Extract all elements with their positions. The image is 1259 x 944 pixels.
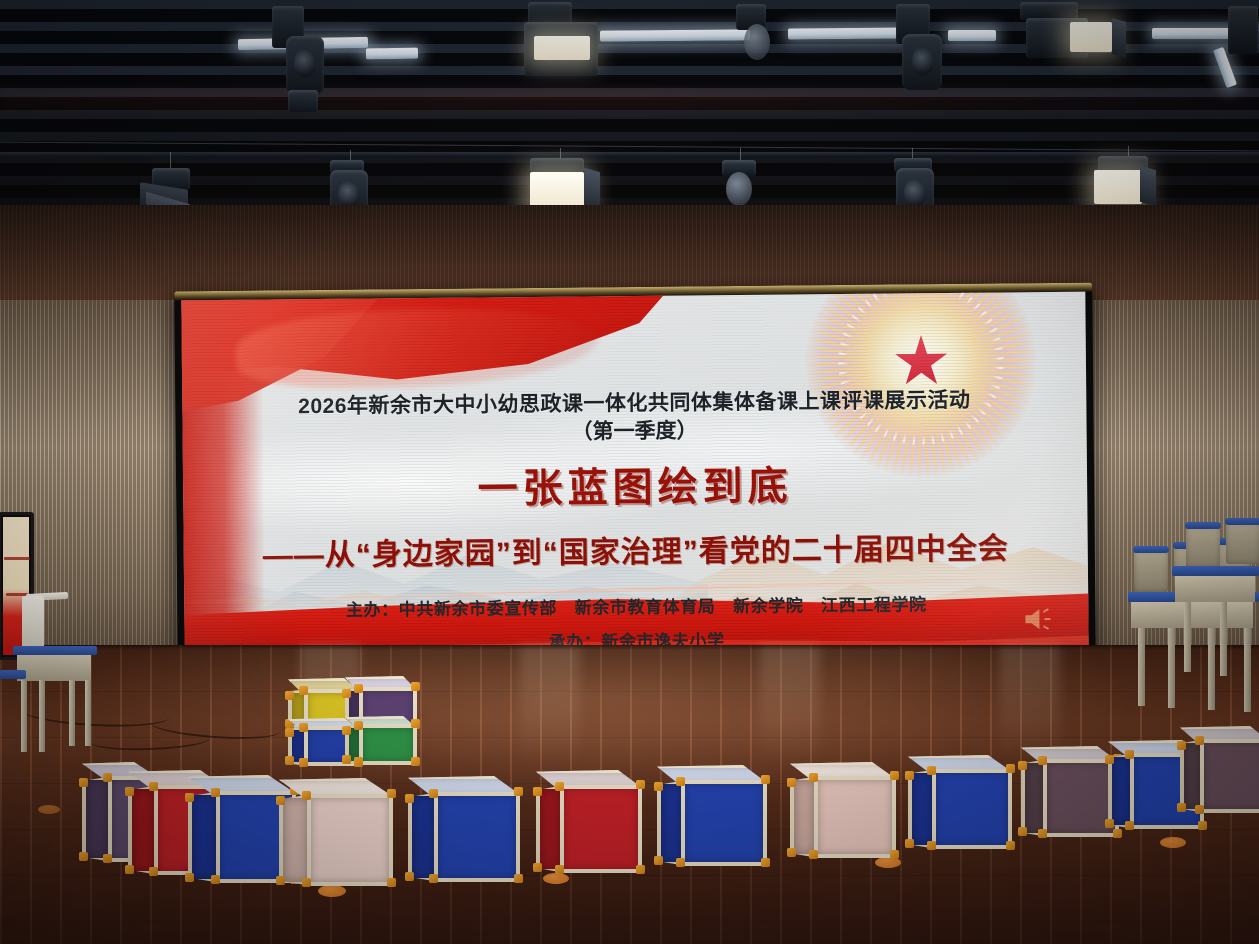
cube-corner-bracket xyxy=(103,773,112,782)
strip-light xyxy=(948,30,996,41)
cube-corner-bracket xyxy=(905,771,914,780)
chair-back xyxy=(1226,522,1259,564)
cube-corner-bracket xyxy=(103,854,112,863)
desk-apron xyxy=(1175,576,1255,602)
cube-corner-bracket xyxy=(79,778,88,787)
cube-corner-bracket xyxy=(1038,829,1047,838)
cube-corner-bracket xyxy=(1105,819,1114,828)
cube-corner-bracket xyxy=(1177,741,1186,750)
cube-corner-bracket xyxy=(761,775,770,784)
cube-corner-bracket xyxy=(1125,750,1134,759)
document-camera[interactable] xyxy=(22,596,44,650)
cube-corner-bracket xyxy=(676,858,685,867)
lighting-truss xyxy=(0,152,1259,157)
cube-stool[interactable] xyxy=(279,778,393,886)
cube-stool[interactable] xyxy=(790,762,896,858)
stage-light-lens xyxy=(904,178,926,208)
cube-corner-bracket xyxy=(890,771,899,780)
desk-top xyxy=(1172,566,1259,576)
cube-corner-bracket xyxy=(185,873,194,882)
cube-corner-bracket xyxy=(299,758,308,767)
desk-top xyxy=(13,646,97,655)
cube-corner-bracket xyxy=(211,788,220,797)
cube-face-front xyxy=(359,724,417,765)
cube-corner-bracket xyxy=(411,682,420,691)
cube-corner-bracket xyxy=(761,858,770,867)
stage-light-lens xyxy=(912,46,934,76)
chair-back xyxy=(1186,526,1220,568)
desk-leg xyxy=(69,680,75,746)
organizers-line: 主办：中共新余市委宣传部 新余市教育体育局 新余学院 江西工程学院 xyxy=(346,590,927,621)
desk-leg xyxy=(1184,602,1191,672)
cube-corner-bracket xyxy=(285,728,294,737)
cube-face-front xyxy=(307,794,393,886)
cube-face-front xyxy=(681,780,767,866)
teacher-desk xyxy=(13,646,97,754)
desk-leg xyxy=(21,680,27,752)
led-wall-screen[interactable]: 2026年新余市大中小幼思政课一体化共同体集体备课上课评课展示活动 （第一季度）… xyxy=(174,283,1096,664)
cube-corner-bracket xyxy=(654,856,663,865)
cube-corner-bracket xyxy=(387,878,396,887)
poster-text-line xyxy=(4,557,30,560)
event-header-line2: （第一季度） xyxy=(571,417,697,446)
cube-corner-bracket xyxy=(354,721,363,730)
cube-corner-bracket xyxy=(429,874,438,883)
stage-light-lens xyxy=(294,48,316,78)
light-reflector-disc xyxy=(744,24,770,60)
stage-light-yoke xyxy=(530,158,584,172)
stage-light-lens xyxy=(338,180,360,208)
cube-corner-bracket xyxy=(211,875,220,884)
cube-stool[interactable] xyxy=(1180,726,1259,813)
cube-corner-bracket xyxy=(533,787,542,796)
desk-leg xyxy=(39,680,45,752)
floor-marker-dot xyxy=(318,885,346,897)
cube-corner-bracket xyxy=(1195,805,1204,814)
cube-corner-bracket xyxy=(411,757,420,766)
cube-corner-bracket xyxy=(1018,761,1027,770)
event-header-line1: 2026年新余市大中小幼思政课一体化共同体集体备课上课评课展示活动 xyxy=(298,388,970,421)
cube-corner-bracket xyxy=(1006,841,1015,850)
chair-top-rail xyxy=(1225,518,1259,525)
cube-corner-bracket xyxy=(890,850,899,859)
projector-lamp xyxy=(534,36,590,60)
barn-door-flap xyxy=(1140,166,1156,207)
stage-light-lamp xyxy=(1070,22,1112,52)
cube-corner-bracket xyxy=(149,867,158,876)
cube-corner-bracket xyxy=(185,793,194,802)
cube-corner-bracket xyxy=(1177,803,1186,812)
stage-light-head xyxy=(528,2,572,24)
cube-corner-bracket xyxy=(342,755,351,764)
cube-corner-bracket xyxy=(533,863,542,872)
stacked-student-desks xyxy=(1172,566,1259,676)
cube-face-front xyxy=(434,792,520,882)
cube-corner-bracket xyxy=(387,789,396,798)
cube-face-front xyxy=(1200,739,1259,813)
screen-text-block: 2026年新余市大中小幼思政课一体化共同体集体备课上课评课展示活动 （第一季度）… xyxy=(181,292,1088,657)
floor-marker-dot xyxy=(1160,837,1186,848)
cube-stool[interactable] xyxy=(345,716,417,765)
cube-corner-bracket xyxy=(1105,755,1114,764)
cube-corner-bracket xyxy=(299,686,308,695)
stage-light-head xyxy=(1228,6,1258,54)
cube-corner-bracket xyxy=(285,691,294,700)
ceiling xyxy=(0,0,1259,232)
strip-light xyxy=(788,27,906,39)
cube-corner-bracket xyxy=(149,782,158,791)
cube-corner-bracket xyxy=(809,850,818,859)
speaker-volume-icon xyxy=(1023,606,1057,632)
stage-light-yoke xyxy=(288,90,318,112)
cube-corner-bracket xyxy=(514,874,523,883)
cube-corner-bracket xyxy=(125,787,134,796)
cube-corner-bracket xyxy=(1195,736,1204,745)
chair-back xyxy=(1134,550,1168,592)
desk-drawer xyxy=(17,655,91,681)
auditorium-stage-photo: 2026年新余市大中小幼思政课一体化共同体集体备课上课评课展示活动 （第一季度）… xyxy=(0,0,1259,944)
cube-corner-bracket xyxy=(787,848,796,857)
strip-light xyxy=(366,48,418,60)
chair-top-rail xyxy=(1133,546,1169,553)
cube-corner-bracket xyxy=(555,865,564,874)
cube-corner-bracket xyxy=(79,852,88,861)
cube-corner-bracket xyxy=(276,796,285,805)
desk-leg xyxy=(1220,602,1227,676)
cube-corner-bracket xyxy=(1018,827,1027,836)
cube-corner-bracket xyxy=(905,839,914,848)
cube-corner-bracket xyxy=(1198,821,1207,830)
cube-corner-bracket xyxy=(514,787,523,796)
barn-door-flap xyxy=(1112,18,1126,57)
cube-corner-bracket xyxy=(1006,764,1015,773)
cube-corner-bracket xyxy=(302,791,311,800)
cube-corner-bracket xyxy=(654,782,663,791)
cube-corner-bracket xyxy=(927,841,936,850)
cube-corner-bracket xyxy=(411,719,420,728)
desk-leg xyxy=(1138,628,1145,706)
cube-corner-bracket xyxy=(125,865,134,874)
cube-stool[interactable] xyxy=(536,770,642,873)
cube-corner-bracket xyxy=(1038,756,1047,765)
cube-face-front xyxy=(814,776,896,858)
cube-corner-bracket xyxy=(787,778,796,787)
cube-corner-bracket xyxy=(276,876,285,885)
cube-corner-bracket xyxy=(636,865,645,874)
cube-stool[interactable] xyxy=(908,755,1012,849)
cube-corner-bracket xyxy=(354,684,363,693)
cube-corner-bracket xyxy=(342,689,351,698)
subtitle: ——从“身边家园”到“国家治理”看党的二十届四中全会 xyxy=(263,523,1009,574)
cube-corner-bracket xyxy=(405,872,414,881)
cube-corner-bracket xyxy=(429,789,438,798)
cube-corner-bracket xyxy=(555,782,564,791)
floor-marker-dot xyxy=(38,805,60,814)
screen-canvas: 2026年新余市大中小幼思政课一体化共同体集体备课上课评课展示活动 （第一季度）… xyxy=(181,292,1088,657)
cube-corner-bracket xyxy=(302,878,311,887)
strip-light xyxy=(600,29,750,41)
floor-marker-dot xyxy=(543,873,569,884)
cube-face-front xyxy=(932,769,1012,849)
cube-stool[interactable] xyxy=(657,765,767,866)
cube-corner-bracket xyxy=(809,773,818,782)
cube-corner-bracket xyxy=(1113,829,1122,838)
cube-corner-bracket xyxy=(676,777,685,786)
stage-light-lamp xyxy=(1094,170,1142,204)
cube-corner-bracket xyxy=(636,780,645,789)
cube-corner-bracket xyxy=(354,757,363,766)
desk-leg xyxy=(85,680,91,746)
cube-corner-bracket xyxy=(342,726,351,735)
cube-corner-bracket xyxy=(299,723,308,732)
cube-face-front xyxy=(560,785,642,873)
cube-corner-bracket xyxy=(405,794,414,803)
cube-corner-bracket xyxy=(1125,821,1134,830)
stage-edge-shadow xyxy=(0,645,1259,650)
cube-corner-bracket xyxy=(285,756,294,765)
main-title: 一张蓝图绘到底 xyxy=(477,454,793,515)
desk-top-partial xyxy=(0,670,26,679)
chair-top-rail xyxy=(1185,522,1221,529)
light-reflector-disc xyxy=(726,172,752,206)
cube-stool[interactable] xyxy=(408,776,520,882)
cube-corner-bracket xyxy=(927,766,936,775)
